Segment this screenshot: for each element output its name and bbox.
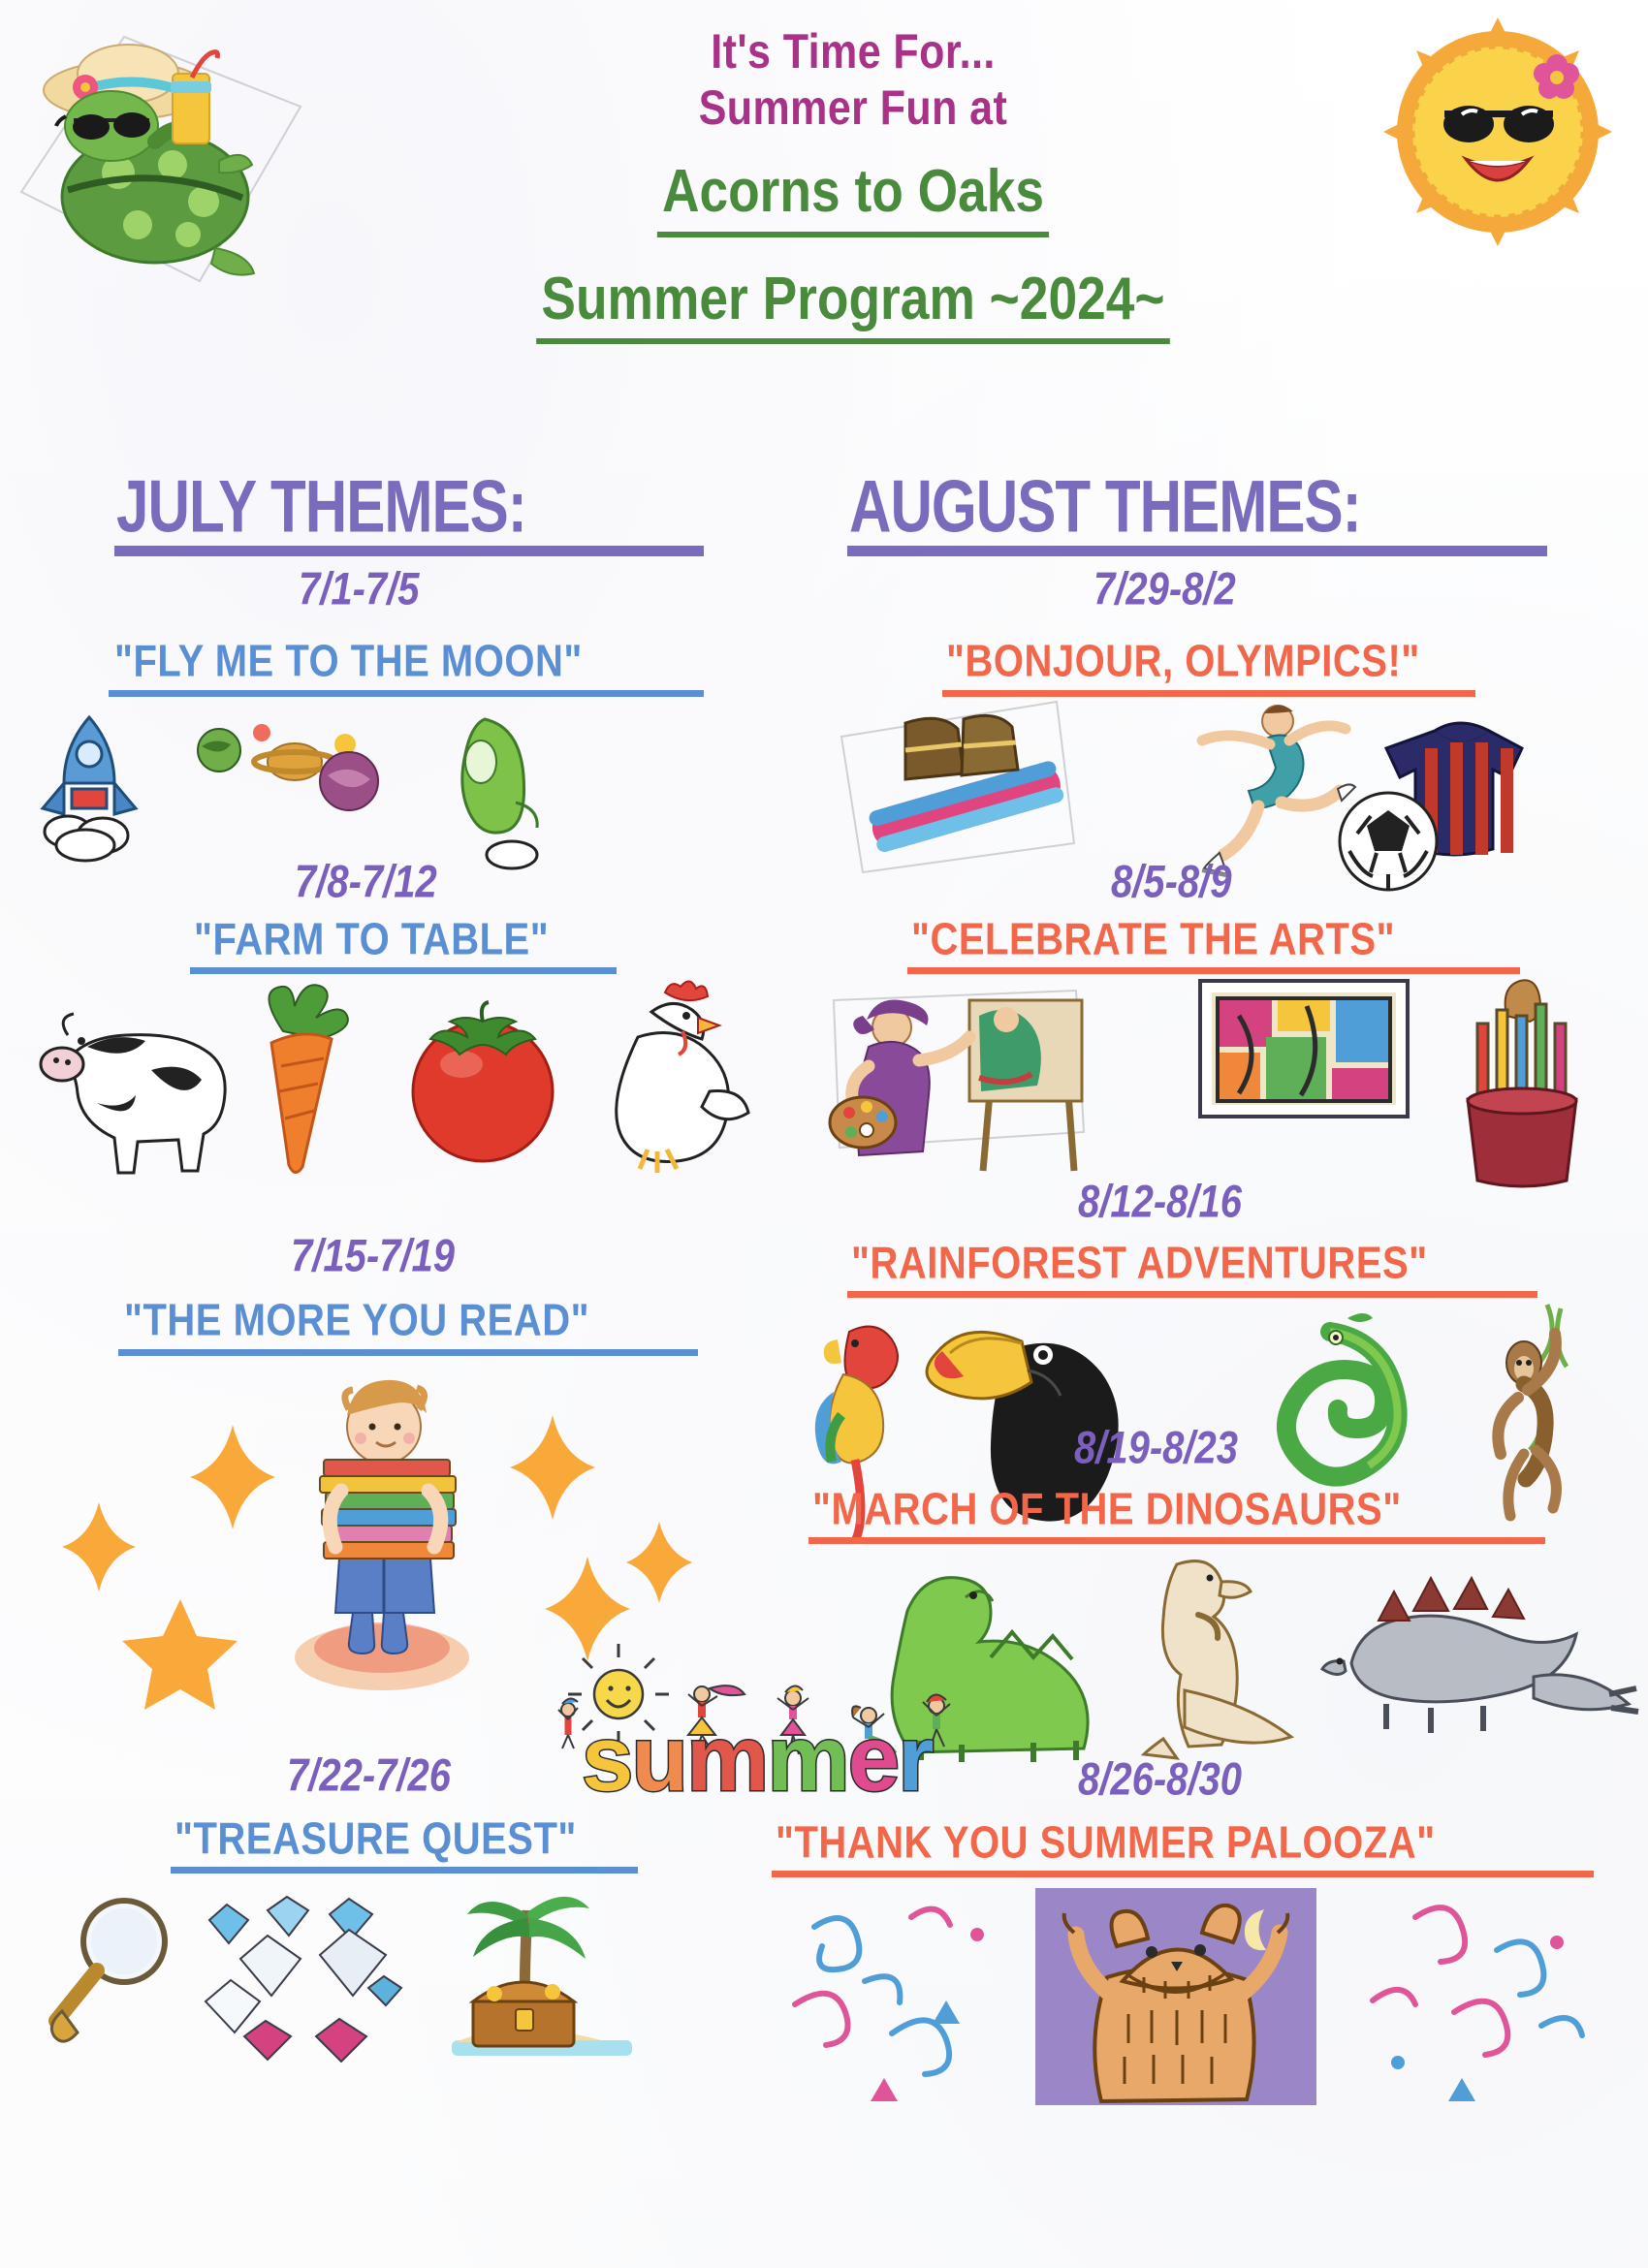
august-week-2-underline (907, 967, 1520, 974)
july-week-2-dates: 7/8-7/12 (295, 857, 437, 908)
summer-letter-0: s (582, 1707, 631, 1811)
figure-skater-icon (1202, 705, 1355, 876)
august-week-1-underline (942, 690, 1475, 697)
chicken-icon (617, 981, 748, 1173)
july-week-1-theme: "FLY ME TO THE MOON" (114, 637, 583, 687)
august-week-3-theme: "RAINFOREST ADVENTURES" (851, 1239, 1428, 1289)
rocket-icon (43, 717, 136, 861)
august-week-3-dates: 8/12-8/16 (1078, 1177, 1242, 1228)
carrot-icon (269, 985, 347, 1172)
org-name: Acorns to Oaks (662, 153, 1044, 232)
cow-icon (41, 1014, 225, 1173)
july-week-4-underline (171, 1867, 638, 1874)
august-week-4-art (872, 1551, 1648, 1764)
summer-letter-4: e (848, 1707, 898, 1811)
july-week-1-dates: 7/1-7/5 (299, 564, 420, 615)
august-week-4-theme: "MARCH OF THE DINOSAURS" (812, 1485, 1402, 1535)
august-week-5-dates: 8/26-8/30 (1078, 1754, 1242, 1806)
summer-letter-5: r (898, 1707, 932, 1811)
summer-letter-1: u (631, 1707, 686, 1811)
five-point-star-icon (122, 1599, 238, 1710)
august-week-5-theme: "THANK YOU SUMMER PALOOZA" (776, 1818, 1436, 1869)
july-heading-underline (114, 546, 704, 556)
alien-ship-icon (462, 719, 537, 868)
august-themes-heading: AUGUST THEMES: (849, 465, 1361, 550)
summer-letter-3: m (767, 1707, 847, 1811)
summer-word-letters: summer (582, 1706, 933, 1812)
july-week-4-dates: 7/22-7/26 (287, 1750, 451, 1802)
flyer-header: It's Time For... Summer Fun at Acorns to… (0, 0, 1648, 446)
soccer-ball-icon (1340, 793, 1437, 890)
august-week-5-underline (772, 1871, 1594, 1877)
chameleon-icon (1286, 1313, 1398, 1477)
july-week-4-art (39, 1885, 737, 2079)
t-rex-icon (1144, 1561, 1291, 1758)
august-week-2-art (834, 977, 1629, 1190)
august-week-4-underline (808, 1537, 1545, 1544)
july-week-1-underline (109, 690, 704, 697)
title-line-1: It's Time For... (395, 23, 1312, 79)
flyer-page: It's Time For... Summer Fun at Acorns to… (0, 0, 1648, 2268)
painter-icon (830, 991, 1084, 1171)
treasure-chest-icon (452, 1897, 632, 2056)
title-block: It's Time For... Summer Fun at Acorns to… (320, 10, 1386, 338)
turtle-sunglasses-icon (10, 17, 301, 299)
title-line-3: Acorns to Oaks (395, 153, 1312, 232)
july-week-3-theme: "THE MORE YOU READ" (124, 1296, 589, 1346)
title-line-4: Summer Program ~2024~ (395, 261, 1312, 339)
monkey-icon (1498, 1305, 1567, 1516)
july-week-3-underline (118, 1349, 698, 1356)
july-themes-heading: JULY THEMES: (116, 465, 526, 550)
paintbrush-cup-icon (1468, 980, 1576, 1186)
july-week-3-dates: 7/15-7/19 (291, 1231, 455, 1282)
july-week-2-underline (190, 967, 617, 974)
gems-icon (206, 1897, 401, 2062)
august-week-4-dates: 8/19-8/23 (1074, 1423, 1238, 1474)
program-name: Summer Program ~2024~ (541, 261, 1164, 339)
july-week-2-art (39, 979, 737, 1182)
august-week-2-dates: 8/5-8/9 (1111, 857, 1232, 908)
august-week-3-underline (847, 1291, 1537, 1298)
stegosaurus-icon (1322, 1578, 1638, 1733)
abstract-painting-icon (1200, 981, 1408, 1117)
july-week-1-art (29, 708, 727, 882)
summer-letter-2: m (686, 1707, 767, 1811)
august-week-5-art (776, 1888, 1609, 2111)
august-week-2-theme: "CELEBRATE THE ARTS" (911, 915, 1395, 965)
july-week-2-theme: "FARM TO TABLE" (194, 915, 549, 965)
august-heading-underline (847, 546, 1547, 556)
party-cat-icon (1035, 1888, 1316, 2105)
smiling-sun-sunglasses-icon (1377, 17, 1619, 250)
magnifying-glass-icon (51, 1901, 165, 2041)
title-line-2: Summer Fun at (395, 79, 1312, 136)
child-with-books-icon (295, 1380, 469, 1690)
tomato-icon (413, 1002, 553, 1161)
august-week-1-dates: 7/29-8/2 (1093, 564, 1236, 615)
snowboard-boots-icon (905, 715, 1018, 779)
snowboard-icon (841, 702, 1074, 872)
august-week-1-theme: "BONJOUR, OLYMPICS!" (946, 637, 1420, 687)
july-week-4-theme: "TREASURE QUEST" (174, 1814, 577, 1865)
